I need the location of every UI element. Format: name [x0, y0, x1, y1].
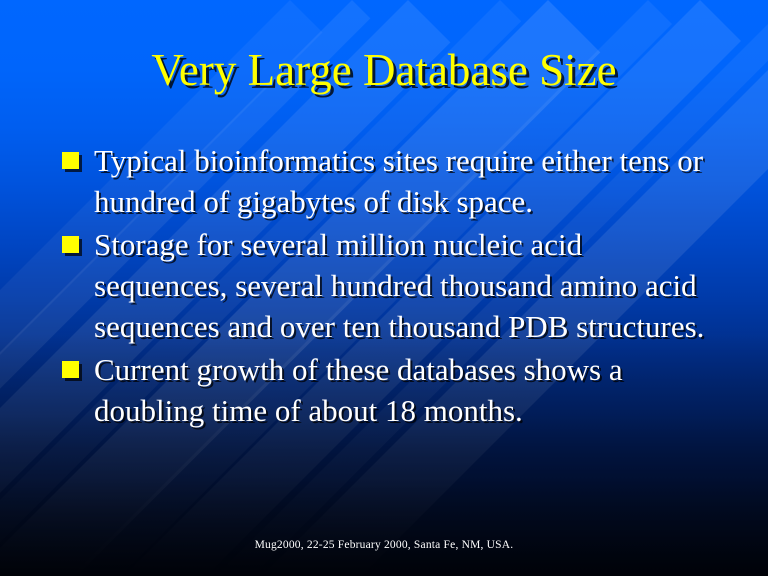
list-item: Storage for several million nucleic acid…: [58, 224, 722, 347]
presentation-slide: Very Large Database Size Typical bioinfo…: [0, 0, 768, 576]
bullet-text: Typical bioinformatics sites require eit…: [94, 140, 722, 222]
square-bullet-icon: [62, 361, 79, 378]
slide-footer: Mug2000, 22-25 February 2000, Santa Fe, …: [0, 538, 768, 552]
square-bullet-icon: [62, 236, 79, 253]
bullet-text: Current growth of these databases shows …: [94, 349, 722, 431]
bullet-text: Storage for several million nucleic acid…: [94, 224, 722, 347]
slide-title: Very Large Database Size: [0, 44, 768, 96]
list-item: Current growth of these databases shows …: [58, 349, 722, 431]
slide-body: Typical bioinformatics sites require eit…: [58, 140, 722, 433]
square-bullet-icon: [62, 152, 79, 169]
list-item: Typical bioinformatics sites require eit…: [58, 140, 722, 222]
